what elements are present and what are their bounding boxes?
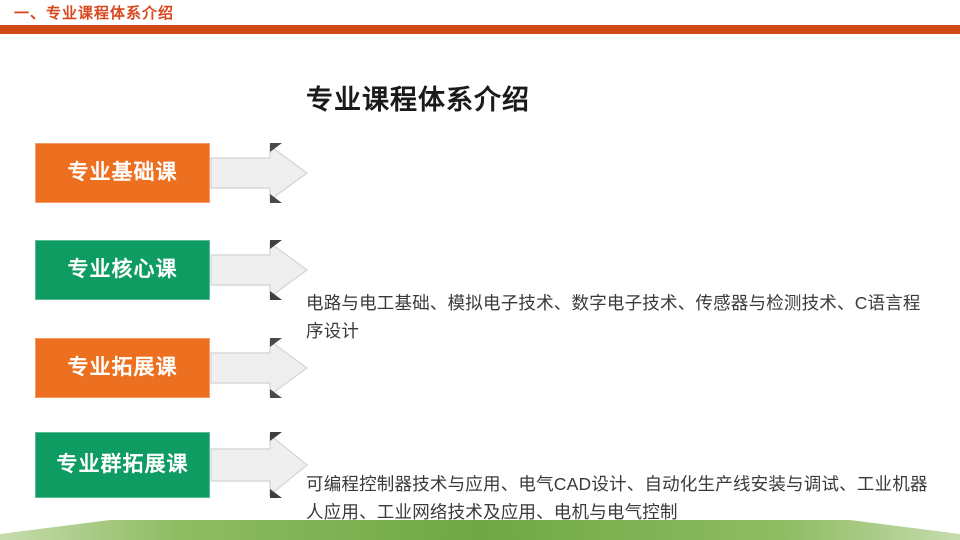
badge-label: 专业群拓展课	[51, 453, 195, 477]
fold-corner-bottom-icon	[270, 194, 282, 203]
arrow-right-icon	[210, 340, 308, 396]
badge-professional-extension[interactable]: 专业拓展课	[35, 338, 210, 398]
badge-label: 专业核心课	[62, 258, 184, 282]
slide-header: 一、专业课程体系介绍	[0, 0, 960, 34]
arrow-right-icon	[210, 145, 308, 201]
badge-professional-core[interactable]: 专业核心课	[35, 240, 210, 300]
badge-professional-group-extension[interactable]: 专业群拓展课	[35, 432, 210, 498]
fold-corner-top-icon	[270, 143, 282, 152]
page-title: 专业课程体系介绍	[306, 78, 530, 117]
fold-corner-bottom-icon	[270, 489, 282, 498]
header-divider-bar	[0, 25, 960, 34]
fold-corner-top-icon	[270, 240, 282, 249]
course-row: 专业群拓展课 质量专业基础知识与体系认证、班组长管理 、精益生产	[0, 432, 960, 498]
badge-with-arrow: 专业基础课	[35, 143, 270, 203]
badge-label: 专业基础课	[62, 161, 184, 185]
badge-with-arrow: 专业核心课	[35, 240, 270, 300]
arrow-right-icon	[210, 434, 308, 496]
badge-with-arrow: 专业群拓展课	[35, 432, 270, 498]
badge-label: 专业拓展课	[62, 356, 184, 380]
badge-professional-basic[interactable]: 专业基础课	[35, 143, 210, 203]
footer-decoration	[0, 504, 960, 540]
fold-corner-top-icon	[270, 338, 282, 347]
arrow-right-icon	[210, 242, 308, 298]
course-row: 专业拓展课 单片机原理与接口技术、现代电气控制系统安装与调试、自动控制原理等	[0, 338, 960, 398]
slide: 一、专业课程体系介绍 专业课程体系介绍 专业基础课 电路与电工基础、模拟电子技术…	[0, 0, 960, 540]
fold-corner-top-icon	[270, 432, 282, 441]
course-row: 专业基础课 电路与电工基础、模拟电子技术、数字电子技术、传感器与检测技术、C语言…	[0, 143, 960, 203]
fold-corner-bottom-icon	[270, 389, 282, 398]
section-label: 一、专业课程体系介绍	[14, 2, 174, 23]
badge-with-arrow: 专业拓展课	[35, 338, 270, 398]
fold-corner-bottom-icon	[270, 291, 282, 300]
course-row: 专业核心课 可编程控制器技术与应用、电气CAD设计、自动化生产线安装与调试、工业…	[0, 240, 960, 300]
